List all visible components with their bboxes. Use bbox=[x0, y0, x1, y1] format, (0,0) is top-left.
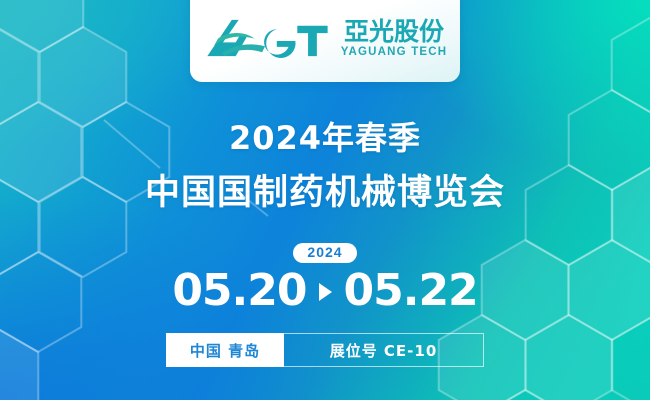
exhibition-banner: 亞光股份 YAGUANG TECH 2024年春季 中国国制药机械博览会 202… bbox=[0, 0, 650, 400]
booth-label: 展位号 CE-10 bbox=[284, 333, 484, 367]
agt-monogram-icon bbox=[203, 17, 331, 61]
logo-text-group: 亞光股份 YAGUANG TECH bbox=[341, 19, 448, 59]
event-season-title: 2024年春季 bbox=[0, 118, 650, 158]
footer-info-bar: 中国 青岛 展位号 CE-10 bbox=[166, 333, 484, 367]
title-block: 2024年春季 中国国制药机械博览会 bbox=[0, 118, 650, 214]
date-range: 05.20 05.22 bbox=[0, 269, 650, 313]
end-date: 05.22 bbox=[344, 269, 478, 313]
arrow-right-triangle-icon bbox=[319, 283, 332, 301]
company-name-cn: 亞光股份 bbox=[344, 19, 444, 44]
logo-card: 亞光股份 YAGUANG TECH bbox=[190, 0, 460, 82]
start-date: 05.20 bbox=[172, 269, 306, 313]
event-main-title: 中国国制药机械博览会 bbox=[0, 172, 650, 214]
location-label: 中国 青岛 bbox=[166, 333, 284, 367]
company-name-en: YAGUANG TECH bbox=[341, 47, 448, 59]
date-block: 2024 05.20 05.22 bbox=[0, 243, 650, 313]
year-badge: 2024 bbox=[293, 243, 356, 263]
